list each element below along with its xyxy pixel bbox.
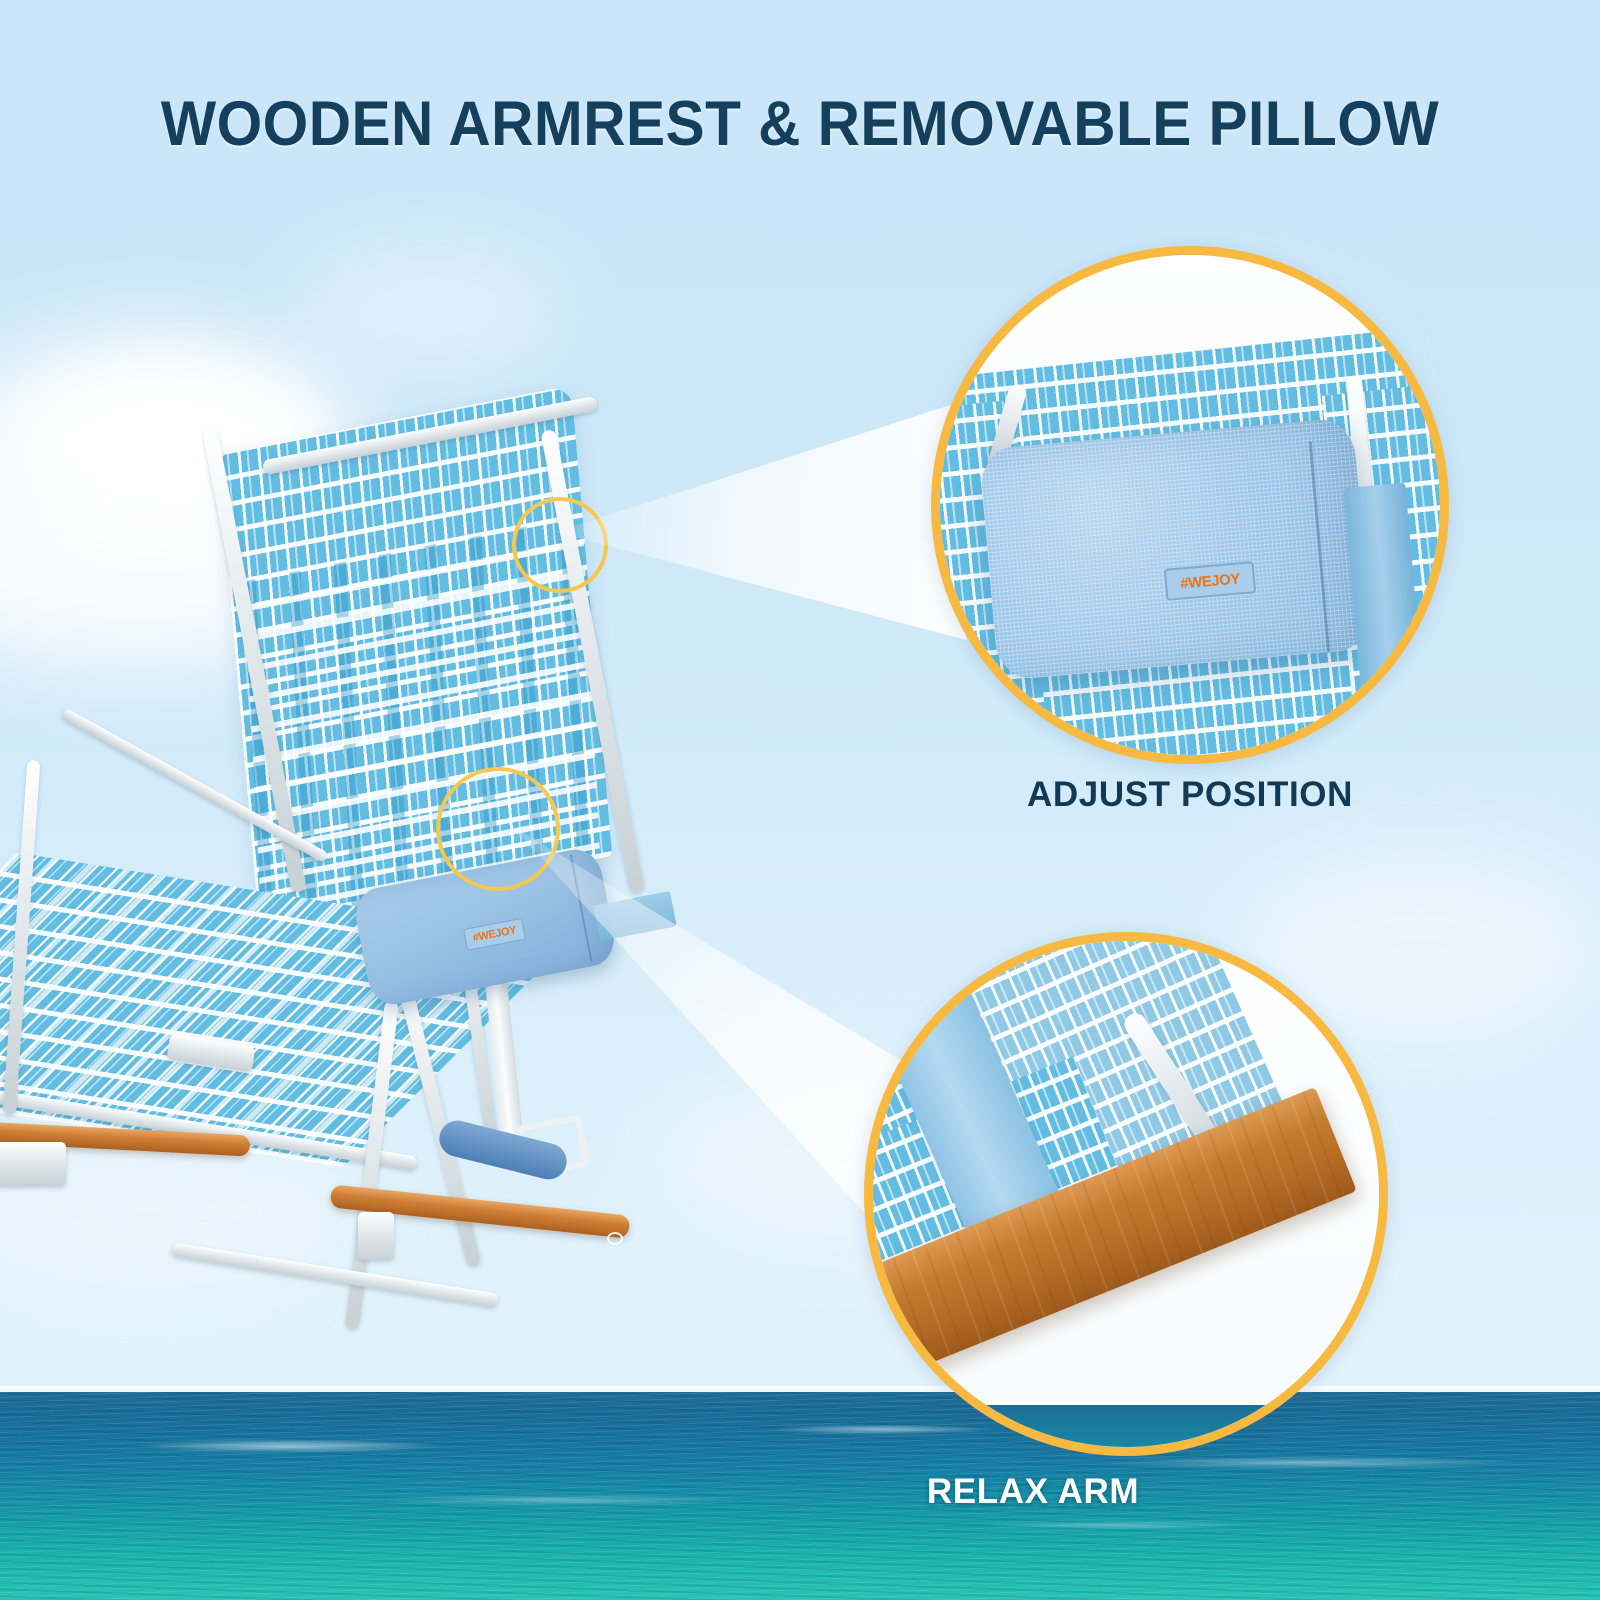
callout-adjust-position: #WEJOY [931, 246, 1449, 764]
infographic-canvas: WOODEN ARMREST & REMOVABLE PILLOW [0, 0, 1600, 1600]
callout-relax-arm-image [873, 941, 1379, 1447]
callout-relax-arm [864, 932, 1388, 1456]
callout-adjust-position-label: ADJUST POSITION [180, 775, 1600, 815]
callout-relax-arm-label: RELAX ARM [233, 1472, 1600, 1512]
callout-pillow-texture [979, 417, 1373, 681]
callout-adjust-position-image: #WEJOY [940, 255, 1440, 755]
callout2-ocean-sliver [873, 1405, 1379, 1447]
